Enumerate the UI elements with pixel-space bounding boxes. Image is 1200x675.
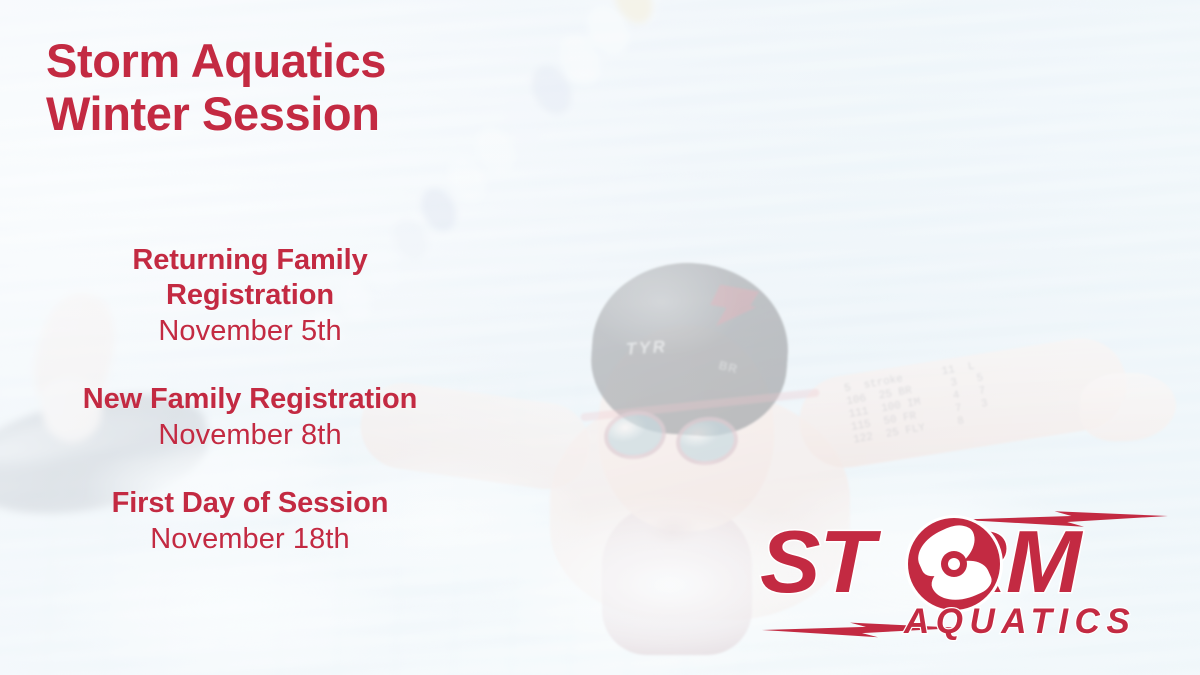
event-date: November 18th <box>0 521 500 558</box>
storm-aquatics-logo: STORM AQUATICS <box>760 498 1170 660</box>
event-title: Returning Family Registration <box>0 243 500 313</box>
logo-wordmark-prefix: ST <box>760 512 872 611</box>
hurricane-eye-center <box>948 558 960 570</box>
event-title: New Family Registration <box>0 382 500 417</box>
list-item: Returning Family Registration November 5… <box>0 243 500 350</box>
list-item: First Day of Session November 18th <box>0 486 500 558</box>
event-title: First Day of Session <box>0 486 500 521</box>
logo-subtitle: AQUATICS <box>904 602 1174 642</box>
event-date: November 8th <box>0 417 500 454</box>
hurricane-spiral-icon <box>908 518 1000 610</box>
list-item: New Family Registration November 8th <box>0 382 500 454</box>
poster-canvas: 5 stroke 11 L 106 25 BR 3 5 111 100 IM 4… <box>0 0 1200 675</box>
event-date: November 5th <box>0 313 500 350</box>
page-title: Storm Aquatics Winter Session <box>46 34 386 140</box>
event-list: Returning Family Registration November 5… <box>0 243 500 590</box>
